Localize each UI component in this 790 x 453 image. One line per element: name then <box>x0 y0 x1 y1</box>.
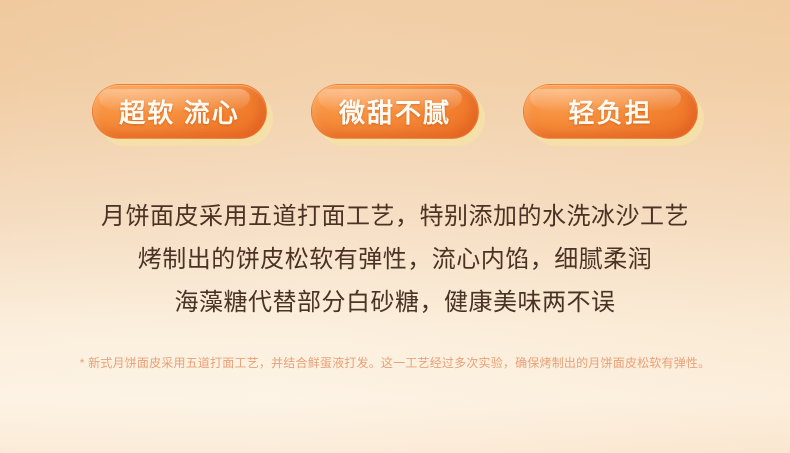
feature-badge-label: 轻负担 <box>568 93 652 130</box>
feature-badge-row: 超软 流心 微甜不腻 轻负担 <box>0 84 790 144</box>
feature-badge-lightly-sweet[interactable]: 微甜不腻 <box>311 84 479 139</box>
description-line: 烤制出的饼皮松软有弹性，流心内馅，细腻柔润 <box>0 239 790 282</box>
promo-panel: 超软 流心 微甜不腻 轻负担 月饼面皮采用五道打面工艺，特别添加的水洗冰沙工艺 … <box>0 0 790 453</box>
footnote-text: * 新式月饼面皮采用五道打面工艺，并结合鲜蛋液打发。这一工艺经过多次实验，确保烤… <box>0 354 790 372</box>
feature-badge-label: 超软 流心 <box>119 93 240 130</box>
description-line: 海藻糖代替部分白砂糖，健康美味两不误 <box>0 282 790 325</box>
feature-badge-label: 微甜不腻 <box>339 93 451 130</box>
description-block: 月饼面皮采用五道打面工艺，特别添加的水洗冰沙工艺 烤制出的饼皮松软有弹性，流心内… <box>0 196 790 325</box>
description-line: 月饼面皮采用五道打面工艺，特别添加的水洗冰沙工艺 <box>0 196 790 239</box>
footnote-block: * 新式月饼面皮采用五道打面工艺，并结合鲜蛋液打发。这一工艺经过多次实验，确保烤… <box>0 354 790 372</box>
feature-badge-light-burden[interactable]: 轻负担 <box>523 84 698 139</box>
feature-badge-super-soft[interactable]: 超软 流心 <box>92 84 267 139</box>
